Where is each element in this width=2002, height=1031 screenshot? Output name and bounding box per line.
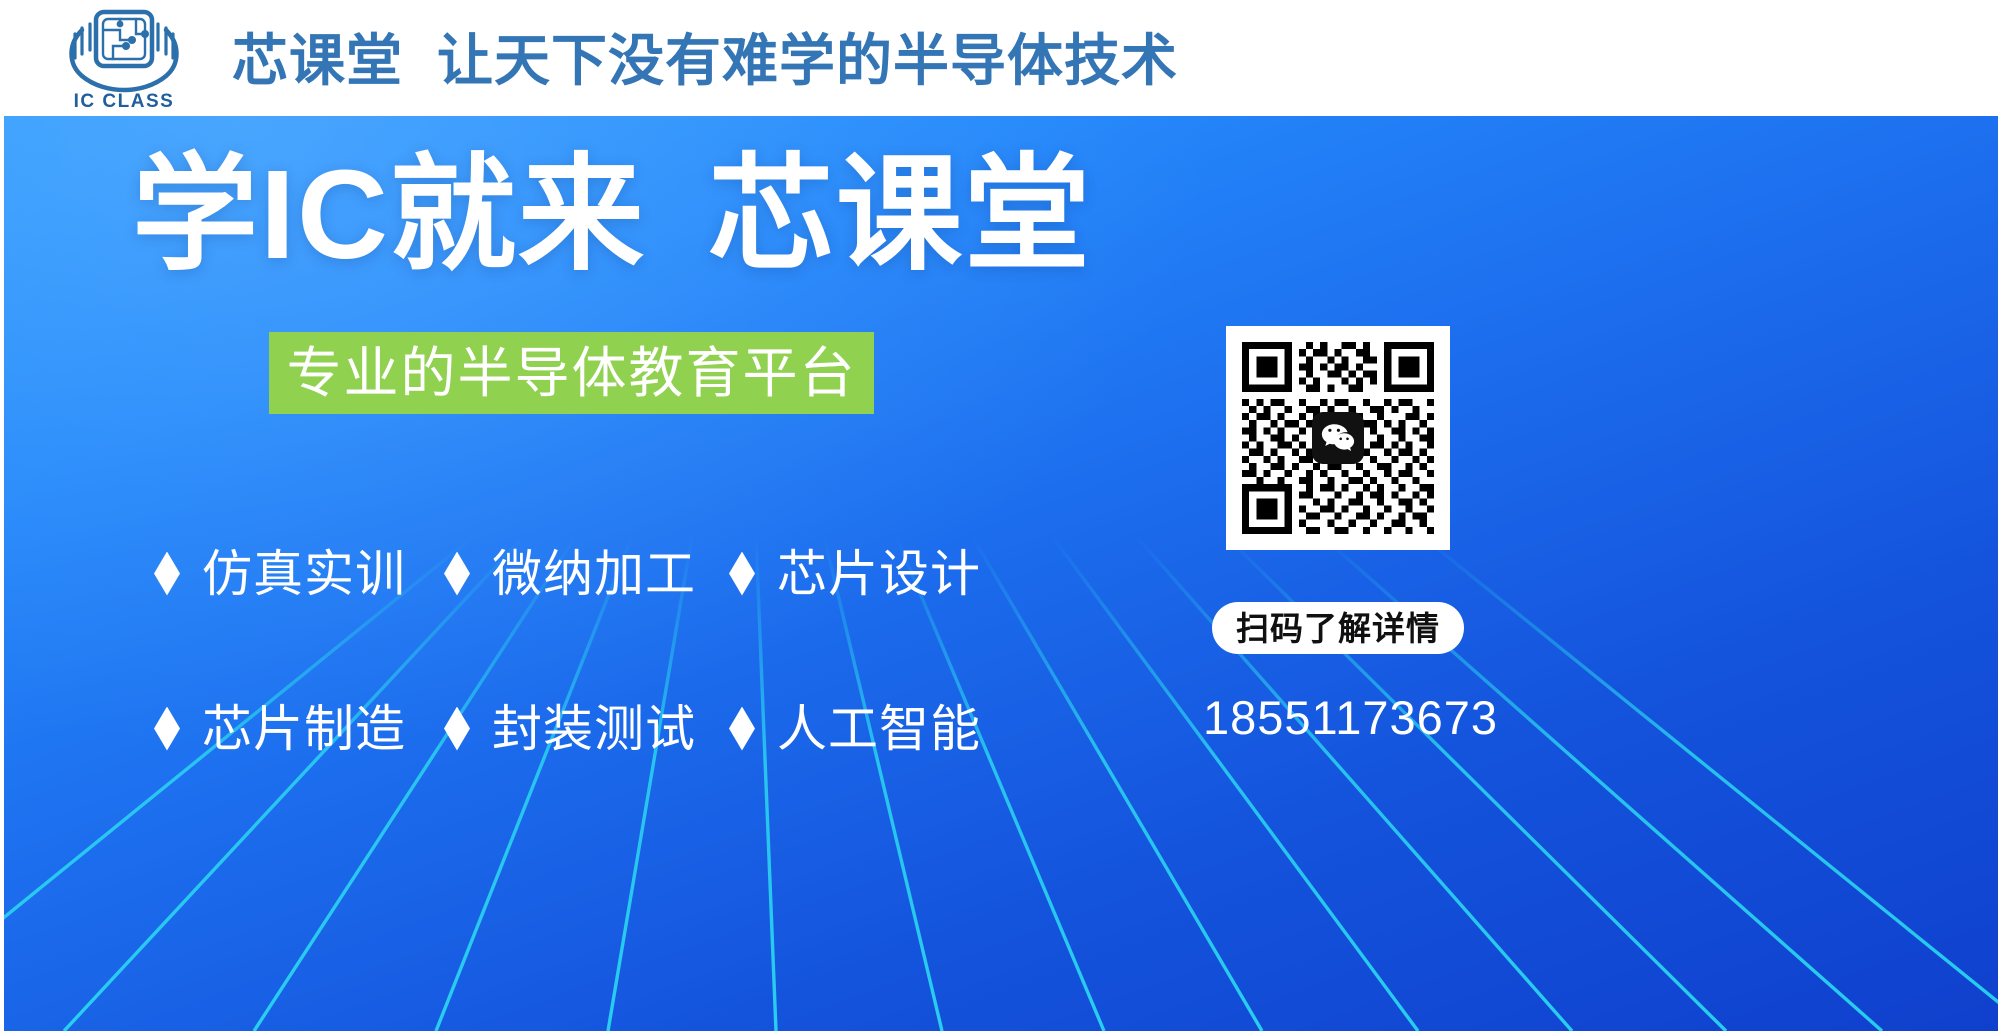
logo-wordmark: IC CLASS: [74, 91, 175, 110]
contact-block: 扫码了解详情 18551173673: [1203, 326, 1473, 741]
diamond-icon: [154, 707, 180, 751]
feature-row: 仿真实训 微纳加工 芯片设计: [154, 496, 994, 651]
page-title: 学IC就来芯课堂: [132, 136, 1092, 294]
wechat-icon: [1312, 412, 1364, 464]
diamond-icon: [444, 707, 470, 751]
feature-label: 芯片设计: [777, 549, 981, 599]
diamond-icon: [444, 552, 470, 596]
feature-item-chip-design[interactable]: 芯片设计: [729, 549, 994, 599]
diamond-icon: [729, 707, 755, 751]
feature-label: 微纳加工: [492, 549, 696, 599]
headline-part-1: 学IC就来: [132, 144, 646, 285]
poster-root: IC CLASS 芯课堂让天下没有难学的半导体技术: [0, 0, 2002, 1031]
feature-label: 仿真实训: [202, 549, 406, 599]
tagline-badge: 专业的半导体教育平台: [269, 332, 874, 414]
scan-cta-button[interactable]: 扫码了解详情: [1212, 602, 1464, 654]
hero-panel: 学IC就来芯课堂 专业的半导体教育平台 仿真实训 微纳加工 芯片设计: [4, 116, 1998, 1031]
feature-item-artificial-intelligence[interactable]: 人工智能: [729, 704, 994, 754]
feature-item-chip-manufacturing[interactable]: 芯片制造: [154, 704, 444, 754]
diamond-icon: [729, 552, 755, 596]
feature-item-simulation-training[interactable]: 仿真实训: [154, 549, 444, 599]
header-brand: 芯课堂: [232, 29, 403, 92]
feature-row: 芯片制造 封装测试 人工智能: [154, 651, 994, 806]
feature-item-packaging-testing[interactable]: 封装测试: [444, 704, 729, 754]
feature-item-micro-nano-fabrication[interactable]: 微纳加工: [444, 549, 729, 599]
feature-label: 封装测试: [492, 704, 696, 754]
diamond-icon: [154, 552, 180, 596]
header-slogan: 让天下没有难学的半导体技术: [437, 29, 1178, 92]
header-title: 芯课堂让天下没有难学的半导体技术: [232, 16, 1178, 97]
headline-part-2: 芯课堂: [708, 144, 1092, 285]
feature-label: 人工智能: [777, 704, 981, 754]
ic-class-logo: IC CLASS: [48, 6, 200, 110]
feature-list: 仿真实训 微纳加工 芯片设计 芯片制造 封装测试: [154, 496, 994, 806]
feature-label: 芯片制造: [202, 704, 406, 754]
header-bar: IC CLASS 芯课堂让天下没有难学的半导体技术: [0, 0, 2002, 116]
phone-number[interactable]: 18551173673: [1203, 694, 1473, 741]
tagline-badge-label: 专业的半导体教育平台: [286, 346, 856, 401]
scan-cta-label: 扫码了解详情: [1236, 612, 1440, 645]
wechat-qr-code[interactable]: [1226, 326, 1450, 550]
